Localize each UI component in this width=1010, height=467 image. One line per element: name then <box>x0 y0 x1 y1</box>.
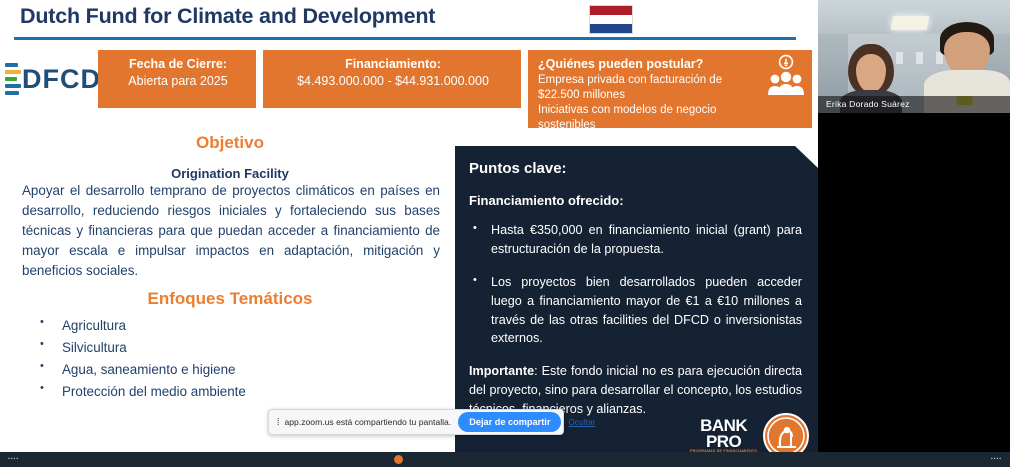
list-item: Agua, saneamiento e higiene <box>36 359 436 381</box>
shared-slide: Dutch Fund for Climate and Development D… <box>0 0 818 452</box>
list-item: Silvicultura <box>36 337 436 359</box>
webcam-video-tile[interactable]: Erika Dorado Suárez <box>818 0 1010 113</box>
taskbar[interactable]: ▪▪▪▪ ▪▪▪▪ <box>0 452 1010 467</box>
list-item: Los proyectos bien desarrollados pueden … <box>469 273 802 349</box>
netherlands-flag-icon <box>589 5 633 34</box>
fecha-title: Fecha de Cierre: <box>108 56 248 73</box>
quienes-line-2: Iniciativas con modelos de negocio soste… <box>538 103 766 133</box>
quienes-line-1: Empresa privada con facturación de $22.5… <box>538 73 766 103</box>
bankpro-wordmark: BANK PRO PROGRAMAS DE FINANCIAMIENTO <box>690 418 757 452</box>
bankpro-logo: BANK PRO PROGRAMAS DE FINANCIAMIENTO <box>690 420 812 452</box>
dfcd-logo: DFCD <box>5 52 105 106</box>
info-box-quienes-pueden-postular: ¿Quiénes pueden postular? Empresa privad… <box>528 50 812 128</box>
quienes-title: ¿Quiénes pueden postular? <box>538 56 766 73</box>
puntos-clave-list: Hasta €350,000 en financiamiento inicial… <box>469 221 802 348</box>
stop-sharing-button[interactable]: Dejar de compartir <box>458 412 561 432</box>
people-idea-icon <box>766 54 806 96</box>
list-item: Hasta €350,000 en financiamiento inicial… <box>469 221 802 259</box>
dfcd-wordmark: DFCD <box>22 66 101 93</box>
taskbar-app-icon[interactable] <box>394 455 403 464</box>
list-item: Protección del medio ambiente <box>36 381 436 403</box>
financiamiento-ofrecido-subheading: Financiamiento ofrecido: <box>469 193 802 208</box>
financiamiento-title: Financiamiento: <box>273 56 513 73</box>
puntos-clave-panel: Puntos clave: Financiamiento ofrecido: H… <box>455 146 818 452</box>
screen-share-toolbar[interactable]: ⦙⦙ app.zoom.us está compartiendo tu pant… <box>268 409 564 435</box>
enfoques-heading: Enfoques Temáticos <box>20 289 440 309</box>
page-title: Dutch Fund for Climate and Development <box>20 4 435 29</box>
bankpro-line-2: PRO <box>690 434 757 450</box>
info-box-fecha-de-cierre: Fecha de Cierre: Abierta para 2025 <box>98 50 256 108</box>
dfcd-bars-icon <box>5 63 21 95</box>
financiamiento-value: $4.493.000.000 - $44.931.000.000 <box>273 73 513 90</box>
info-box-financiamiento: Financiamiento: $4.493.000.000 - $44.931… <box>263 50 521 108</box>
origination-facility-subheading: Origination Facility <box>20 166 440 181</box>
taskbar-left-label: ▪▪▪▪ <box>8 456 19 462</box>
taskbar-right-label: ▪▪▪▪ <box>991 456 1002 462</box>
fecha-value: Abierta para 2025 <box>108 73 248 90</box>
bankpro-emblem-icon <box>763 413 809 452</box>
ceiling-light <box>891 16 929 30</box>
puntos-clave-heading: Puntos clave: <box>469 160 802 177</box>
share-status-text: app.zoom.us está compartiendo tu pantall… <box>284 417 451 427</box>
enfoques-list: Agricultura Silvicultura Agua, saneamien… <box>36 315 436 402</box>
objetivo-heading: Objetivo <box>20 133 440 153</box>
title-divider <box>14 37 796 40</box>
screen: Dutch Fund for Climate and Development D… <box>0 0 1010 467</box>
list-item: Agricultura <box>36 315 436 337</box>
hide-link[interactable]: Ocultar <box>568 417 595 427</box>
importante-label: Importante <box>469 364 534 378</box>
objetivo-paragraph: Apoyar el desarrollo temprano de proyect… <box>22 181 440 282</box>
participant-name-label: Erika Dorado Suárez <box>818 96 1010 113</box>
